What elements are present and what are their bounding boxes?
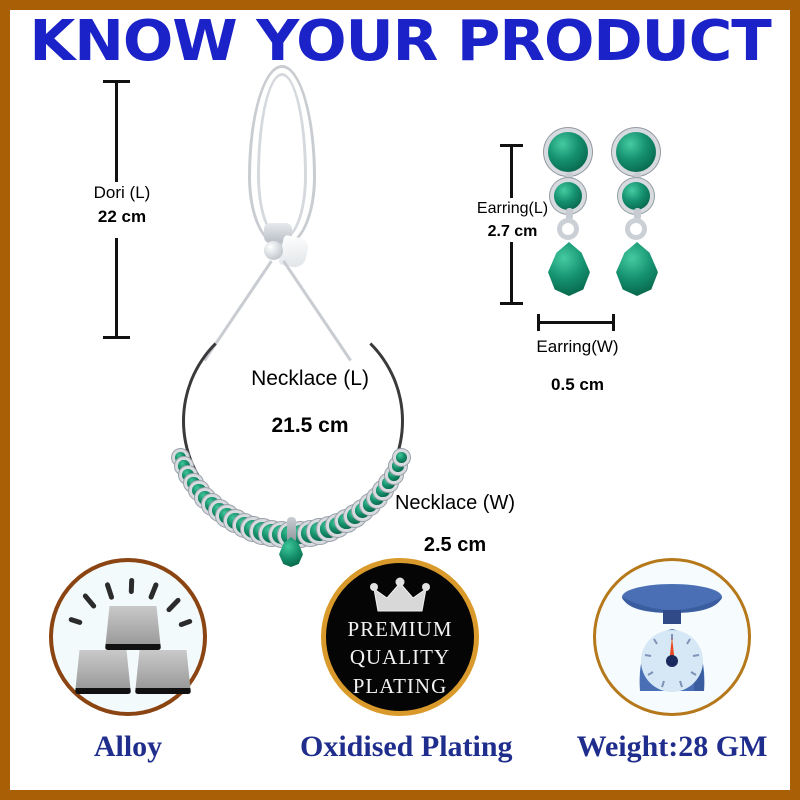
earring-stone-small [622, 182, 650, 210]
earring-drop-stone [548, 242, 590, 296]
metal-ingots-icon [49, 558, 207, 716]
seal-line-2: QUALITY [326, 643, 474, 671]
earring-width-line [538, 321, 614, 324]
premium-quality-seal: PREMIUM QUALITY PLATING [321, 558, 479, 716]
necklace-cord-bead [264, 241, 283, 260]
earring-drop-stone [616, 242, 658, 296]
earring-length-name: Earring(L) [460, 198, 565, 220]
earring-length-line-top [510, 146, 513, 198]
premium-seal-text: PREMIUM QUALITY PLATING [326, 615, 474, 700]
badge-alloy-caption: Alloy [28, 730, 228, 763]
badge-plating-caption: Oxidised Plating [300, 730, 500, 763]
sparkle-ray [104, 582, 114, 601]
earring-stone-large [548, 132, 588, 172]
feature-badge-row: Alloy PREMIUM QUALITY PLATING [10, 558, 790, 790]
dori-dimension-cap-bottom [103, 336, 130, 339]
badge-plating: PREMIUM QUALITY PLATING Oxidised Plating [300, 558, 500, 763]
sparkle-ray [148, 582, 159, 601]
sparkle-ray [178, 618, 193, 627]
dori-dimension-line-top [115, 82, 118, 182]
earring-ring [625, 218, 647, 240]
sparkle-ray [129, 578, 135, 594]
necklace-length-label: Necklace (L) 21.5 cm [210, 365, 410, 442]
earring-length-value: 2.7 cm [460, 220, 565, 243]
badge-alloy: Alloy [28, 558, 228, 763]
ingot-bottom-right [135, 650, 191, 694]
dori-dimension-line-bottom [115, 238, 118, 338]
weighing-scale-icon [593, 558, 751, 716]
necklace-length-value: 21.5 cm [210, 411, 410, 441]
necklace-stone [396, 452, 407, 463]
earring-length-cap-bottom [500, 302, 523, 305]
earring-length-label: Earring(L) 2.7 cm [460, 198, 565, 243]
scale-graphic [596, 579, 748, 706]
earring-width-name: Earring(W) [515, 336, 640, 359]
earring-width-value: 0.5 cm [515, 373, 640, 398]
seal-line-3: PLATING [326, 672, 474, 700]
sparkle-ray [82, 592, 97, 609]
earring-width-label: Earring(W) 0.5 cm [515, 336, 640, 398]
earring-stone-large [616, 132, 656, 172]
necklace-length-name: Necklace (L) [210, 365, 410, 393]
crown-icon [326, 577, 474, 620]
sparkle-ray [68, 616, 83, 625]
seal-line-1: PREMIUM [326, 615, 474, 643]
badge-weight: Weight:28 GM [572, 558, 772, 763]
page-title: KNOW YOUR PRODUCT [0, 14, 800, 70]
badge-weight-caption: Weight:28 GM [572, 730, 772, 763]
product-infographic: KNOW YOUR PRODUCT Dori (L) 22 cm Necklac… [0, 0, 800, 800]
ingot-bottom-left [75, 650, 131, 694]
earring-length-line-bottom [510, 242, 513, 304]
earring-width-cap-right [612, 314, 615, 331]
necklace-width-name: Necklace (W) [365, 490, 545, 517]
necklace-width-value: 2.5 cm [365, 531, 545, 560]
necklace-width-label: Necklace (W) 2.5 cm [365, 490, 545, 560]
earring-right [608, 130, 672, 315]
ingot-top [105, 606, 161, 650]
sparkle-ray [165, 597, 181, 613]
